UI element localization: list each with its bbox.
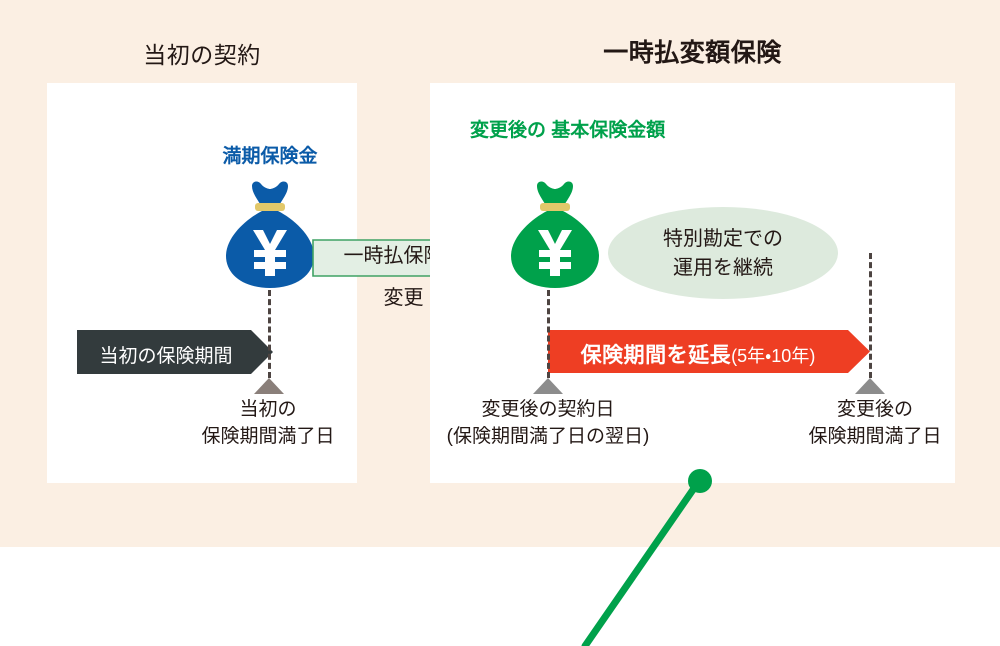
label-new-contract-date: 変更後の契約日 (保険期間満了日の翌日) — [438, 396, 658, 450]
guide-line-new-start — [547, 290, 550, 378]
label-new-maturity-line1: 変更後の — [780, 396, 970, 423]
guide-line-original-end — [268, 290, 271, 378]
badge-period-extension-label: 保険期間を延長(5年・10年) — [548, 339, 848, 369]
badge-extension-main-text: 保険期間を延長 — [581, 344, 732, 367]
label-new-contract-line2: (保険期間満了日の翌日) — [438, 423, 658, 450]
label-new-maturity-line2: 保険期間満了日 — [780, 423, 970, 450]
caption-revised-base-amount: 変更後の 基本保険金額 — [470, 118, 650, 143]
caption-maturity-benefit: 満期保険金 — [180, 144, 360, 169]
callout-ellipse-text: 特別勘定での 運用を継続 — [608, 225, 838, 283]
callout-line2: 運用を継続 — [608, 254, 838, 283]
label-original-maturity-date: 当初の 保険期間満了日 — [178, 396, 358, 450]
diagram-canvas: 当初の契約 満期保険金 当初の保険期間 当初の 保険期間満了日 — [0, 0, 1000, 646]
callout-line1: 特別勘定での — [608, 225, 838, 254]
marker-new-end-icon — [855, 378, 885, 394]
money-bag-blue-icon — [222, 180, 318, 295]
label-new-maturity-date: 変更後の 保険期間満了日 — [780, 396, 970, 450]
caption-revised-base-amount-line2: 基本保険金額 — [551, 120, 665, 141]
guide-line-new-end — [869, 253, 872, 378]
marker-new-start-icon — [533, 378, 563, 394]
label-new-contract-line1: 変更後の契約日 — [438, 396, 658, 423]
label-original-maturity-line1: 当初の — [178, 396, 358, 423]
badge-extension-years-text: (5年・10年) — [731, 346, 815, 366]
badge-original-period-label: 当初の保険期間 — [77, 341, 255, 368]
label-original-maturity-line2: 保険期間満了日 — [178, 423, 358, 450]
caption-revised-base-amount-line1: 変更後の — [470, 120, 546, 141]
section-title-original: 当初の契約 — [47, 36, 357, 70]
section-title-variable-insurance: 一時払変額保険 — [430, 33, 955, 69]
marker-original-end-icon — [254, 378, 284, 394]
money-bag-green-icon — [507, 180, 603, 295]
